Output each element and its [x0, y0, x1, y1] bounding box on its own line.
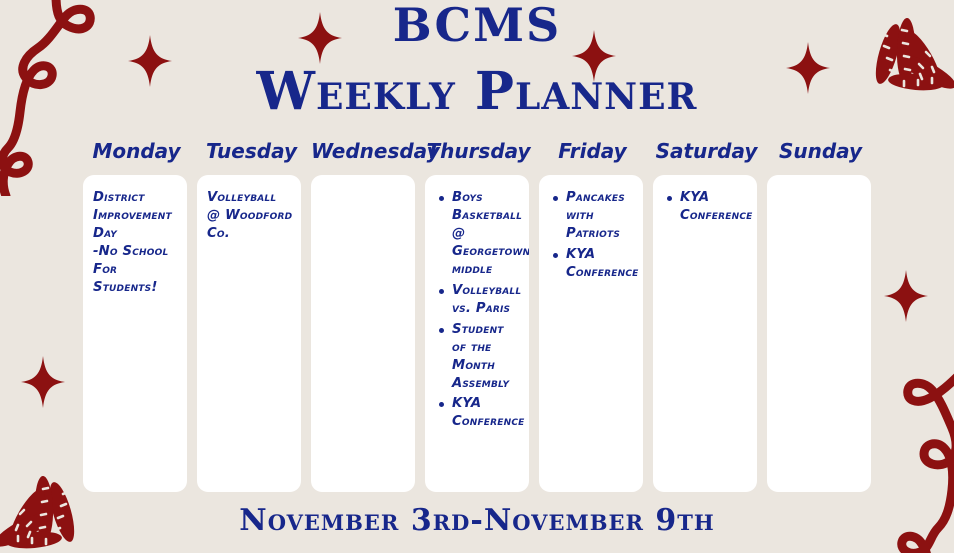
sparkle-right-mid-icon [884, 270, 928, 322]
day-header-thursday: Thursday [425, 139, 532, 163]
date-range-label: November 3rd-November 9th [0, 503, 954, 538]
list-item: Pancakes with Patriots [566, 189, 635, 243]
day-header-saturday: Saturday [653, 139, 760, 163]
list-item: KYA Conference [452, 395, 521, 431]
day-card-tuesday-line-1: Volleyball @ Woodford Co. [207, 189, 293, 243]
day-card-saturday-list: KYA Conference [663, 189, 749, 225]
day-card-tuesday[interactable]: Volleyball @ Woodford Co. [197, 175, 301, 492]
day-card-sunday[interactable] [767, 175, 871, 492]
day-card-wednesday[interactable] [311, 175, 415, 492]
day-header-monday: Monday [83, 139, 190, 163]
list-item: Boys Basketball @ Georgetown middle [452, 189, 521, 279]
day-header-friday: Friday [539, 139, 646, 163]
day-header-tuesday: Tuesday [198, 139, 305, 163]
page-subtitle: Weekly Planner [0, 66, 954, 118]
list-item: KYA Conference [566, 246, 635, 282]
day-card-friday-list: Pancakes with Patriots KYA Conference [549, 189, 635, 282]
day-card-thursday-list: Boys Basketball @ Georgetown middle Voll… [435, 189, 521, 431]
day-card-thursday[interactable]: Boys Basketball @ Georgetown middle Voll… [425, 175, 529, 492]
day-header-wednesday: Wednesday [311, 139, 418, 163]
list-item: Volleyball vs. Paris [452, 282, 521, 318]
day-card-monday-body: District Improvement Day -No School For … [93, 189, 179, 297]
weekly-planner-poster: BCMS Weekly Planner Monday Tuesday Wedne… [0, 0, 954, 553]
page-title: BCMS [0, 2, 954, 48]
day-card-monday-line-1: District Improvement Day [93, 189, 179, 243]
sparkle-left-mid-icon [21, 356, 65, 408]
list-item: KYA Conference [680, 189, 749, 225]
day-card-friday[interactable]: Pancakes with Patriots KYA Conference [539, 175, 643, 492]
day-card-monday-line-2: -No School For Students! [93, 243, 179, 297]
day-card-saturday[interactable]: KYA Conference [653, 175, 757, 492]
list-item: Student of the Month Assembly [452, 321, 521, 393]
day-card-tuesday-body: Volleyball @ Woodford Co. [207, 189, 293, 243]
day-card-monday[interactable]: District Improvement Day -No School For … [83, 175, 187, 492]
day-header-sunday: Sunday [767, 139, 874, 163]
